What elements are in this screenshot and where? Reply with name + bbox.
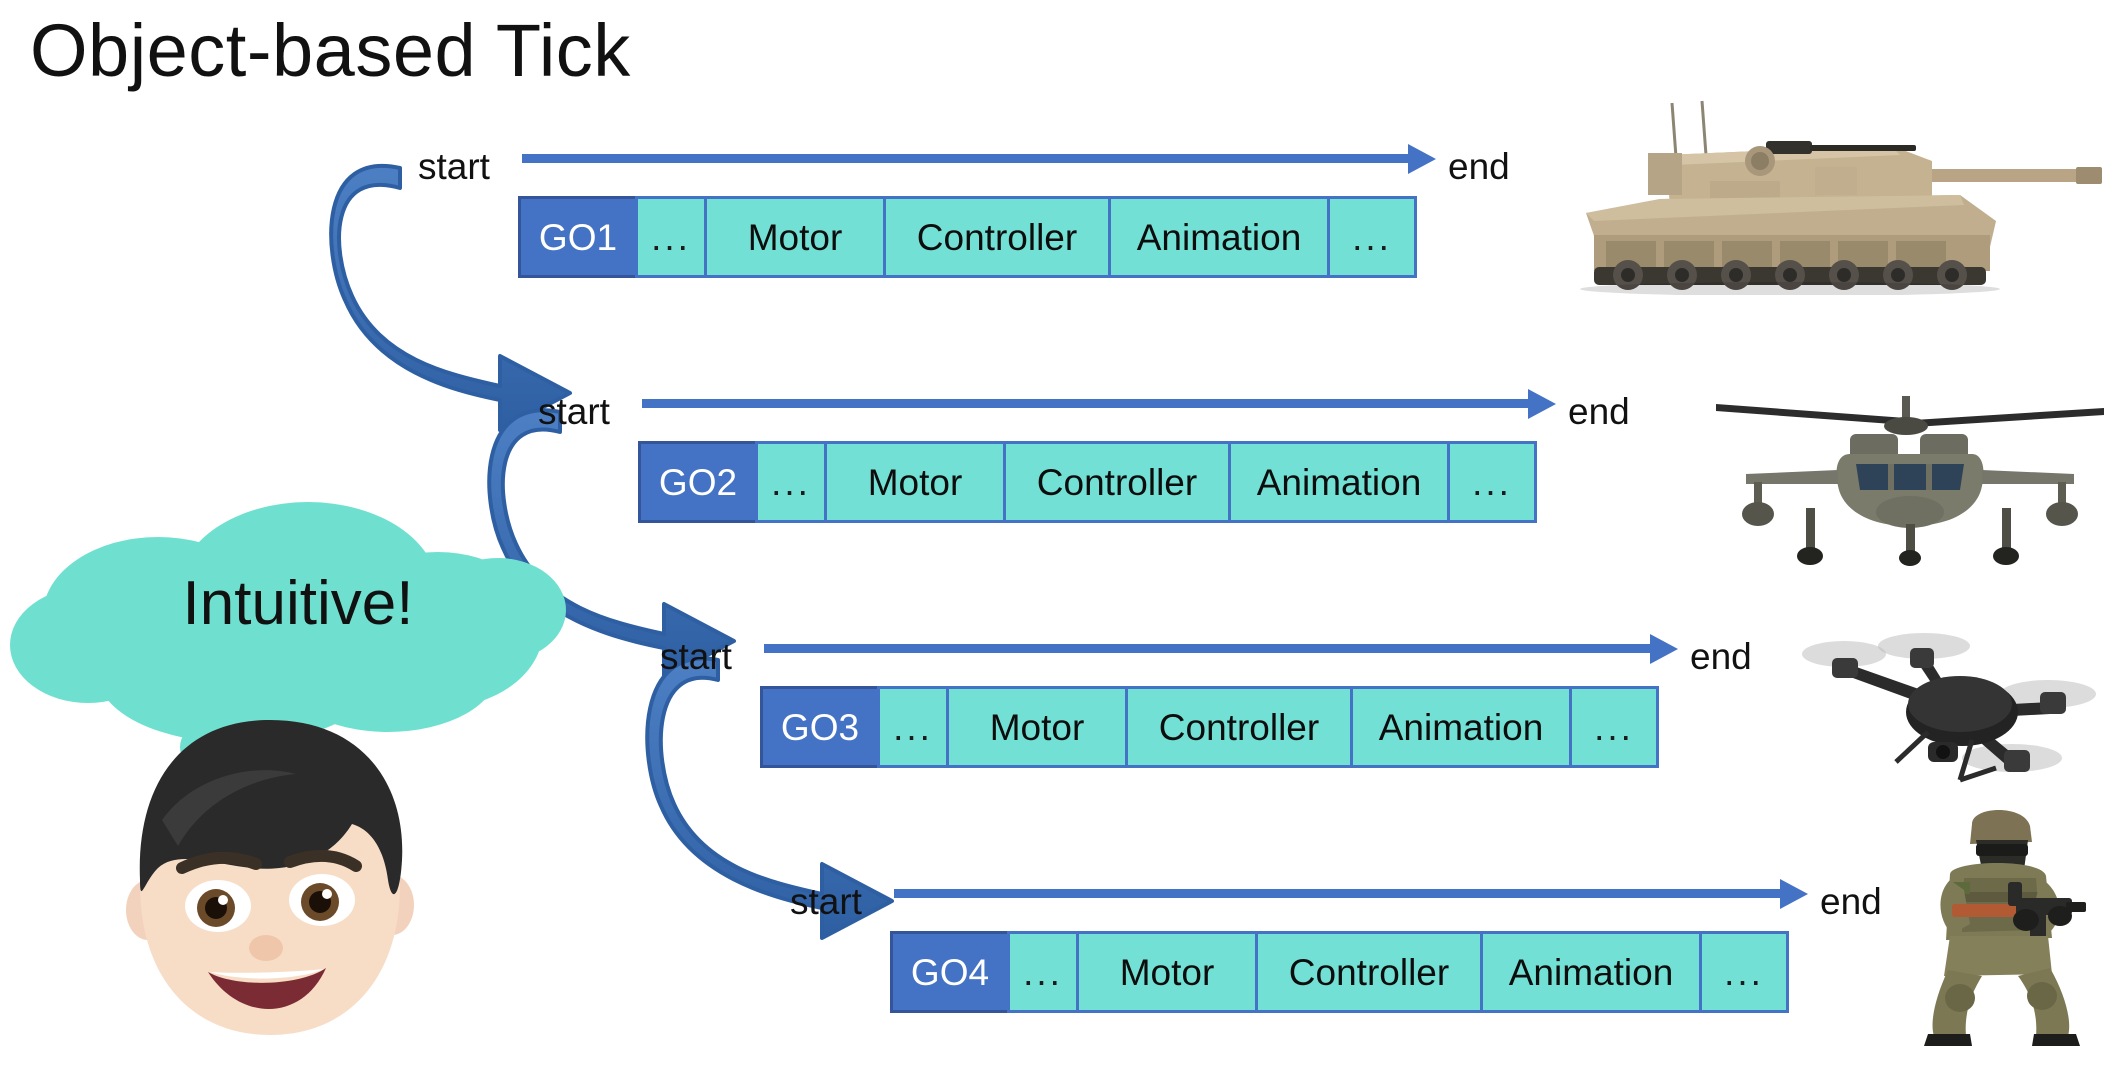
axis-line — [764, 644, 1654, 653]
axis-arrowhead-icon — [1408, 144, 1436, 174]
axis-arrowhead-icon — [1650, 634, 1678, 664]
tick-cell-ellipsis-right[interactable]: ... — [1699, 931, 1789, 1013]
tick-cell-ellipsis-left[interactable]: ... — [755, 441, 827, 523]
tick-cell-controller[interactable]: Controller — [1003, 441, 1231, 523]
tick-sequence-go4: GO4 ... Motor Controller Animation ... — [890, 931, 1789, 1013]
axis-line — [522, 154, 1412, 163]
tick-cell-controller[interactable]: Controller — [883, 196, 1111, 278]
end-label: end — [1820, 883, 1882, 920]
end-label: end — [1690, 638, 1752, 675]
timeline-axis: start end — [538, 385, 1578, 431]
end-label: end — [1568, 393, 1630, 430]
start-label: start — [418, 148, 490, 185]
tick-cell-motor[interactable]: Motor — [946, 686, 1128, 768]
tick-sequence-go3: GO3 ... Motor Controller Animation ... — [760, 686, 1659, 768]
tick-cell-animation[interactable]: Animation — [1480, 931, 1702, 1013]
tick-cell-ellipsis-left[interactable]: ... — [877, 686, 949, 768]
slide-canvas: Object-based Tick — [0, 0, 2126, 1085]
soldier-image-icon — [1890, 798, 2120, 1048]
object-box-go2[interactable]: GO2 — [638, 441, 758, 523]
axis-arrowhead-icon — [1780, 879, 1808, 909]
tick-sequence-go1: GO1 ... Motor Controller Animation ... — [518, 196, 1417, 278]
tick-cell-ellipsis-right[interactable]: ... — [1569, 686, 1659, 768]
axis-arrowhead-icon — [1528, 389, 1556, 419]
end-label: end — [1448, 148, 1510, 185]
tick-sequence-go2: GO2 ... Motor Controller Animation ... — [638, 441, 1537, 523]
tick-cell-ellipsis-right[interactable]: ... — [1327, 196, 1417, 278]
tick-cell-ellipsis-right[interactable]: ... — [1447, 441, 1537, 523]
tick-cell-controller[interactable]: Controller — [1255, 931, 1483, 1013]
start-label: start — [538, 393, 610, 430]
tick-cell-motor[interactable]: Motor — [704, 196, 886, 278]
thought-cloud-label: Intuitive! — [8, 495, 588, 720]
object-box-go4[interactable]: GO4 — [890, 931, 1010, 1013]
object-box-go3[interactable]: GO3 — [760, 686, 880, 768]
timeline-axis: start end — [418, 140, 1458, 186]
tick-cell-motor[interactable]: Motor — [824, 441, 1006, 523]
tank-image-icon — [1560, 95, 2120, 295]
tick-cell-animation[interactable]: Animation — [1228, 441, 1450, 523]
memoji-smiling-boy-face-icon — [100, 700, 440, 1045]
tick-cell-controller[interactable]: Controller — [1125, 686, 1353, 768]
timeline-axis: start end — [660, 630, 1700, 676]
tick-cell-motor[interactable]: Motor — [1076, 931, 1258, 1013]
tick-cell-animation[interactable]: Animation — [1108, 196, 1330, 278]
page-title: Object-based Tick — [30, 8, 631, 93]
axis-line — [894, 889, 1784, 898]
tick-cell-animation[interactable]: Animation — [1350, 686, 1572, 768]
tick-cell-ellipsis-left[interactable]: ... — [635, 196, 707, 278]
timeline-axis: start end — [790, 875, 1830, 921]
drone-image-icon — [1800, 630, 2120, 800]
object-box-go1[interactable]: GO1 — [518, 196, 638, 278]
start-label: start — [660, 638, 732, 675]
helicopter-image-icon — [1710, 378, 2110, 568]
thought-cloud: Intuitive! — [8, 495, 588, 720]
tick-cell-ellipsis-left[interactable]: ... — [1007, 931, 1079, 1013]
start-label: start — [790, 883, 862, 920]
axis-line — [642, 399, 1532, 408]
